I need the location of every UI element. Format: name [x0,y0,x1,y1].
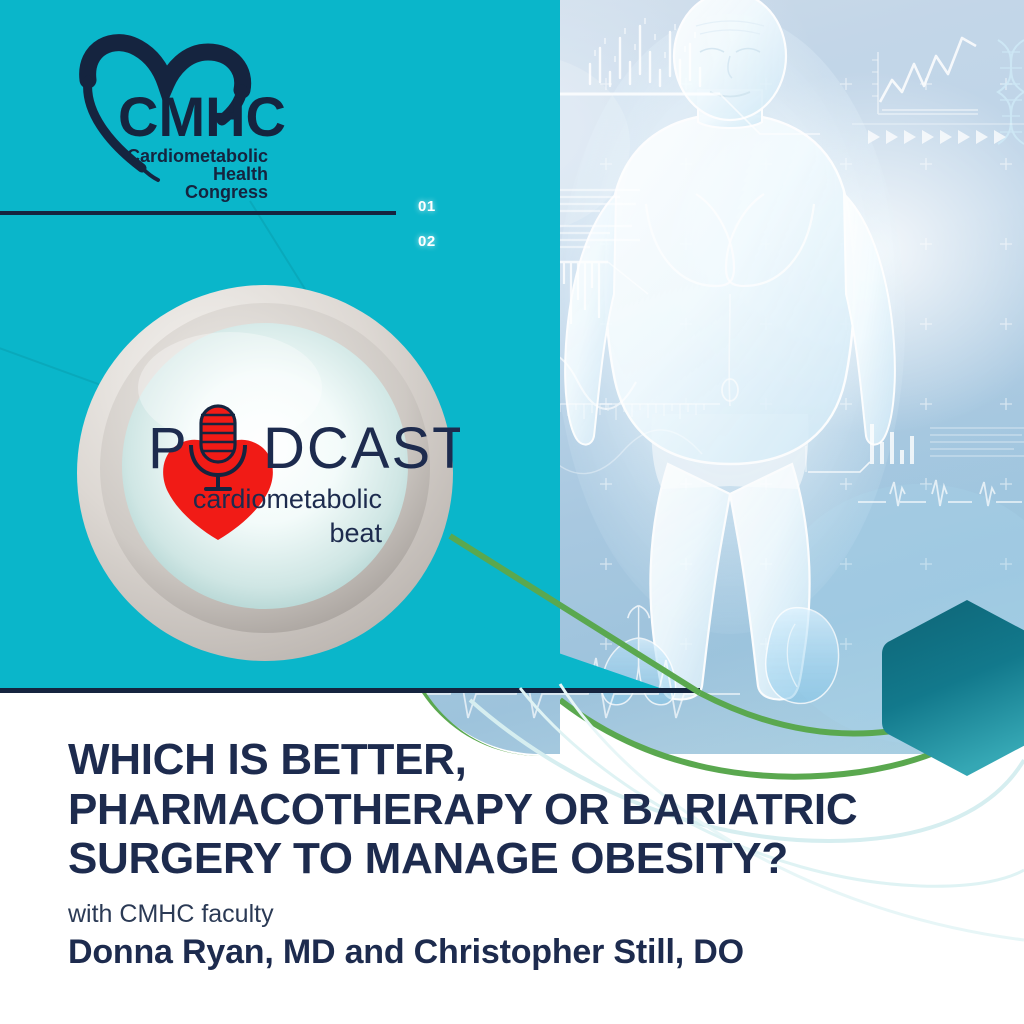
logo-acronym: CMHC [118,85,286,148]
hud-index-1: 01 [418,198,436,215]
badge-word-prefix: P [148,416,189,481]
dna-helix-icon [998,40,1024,144]
kidney-organ-icon [766,608,839,704]
poster-text-block: WHICH IS BETTER, PHARMACOTHERAPY OR BARI… [68,735,968,972]
logo-line3: Congress [185,182,268,202]
line-chart-icon [872,38,978,114]
podcast-badge[interactable]: P DCAST cardiometabolic beat [70,278,460,668]
logo-line2: Health [213,164,268,184]
top-divider-rule [0,211,396,215]
faculty-prefix: with CMHC faculty [68,900,968,929]
logo-line1: Cardiometabolic [127,146,268,166]
badge-word-suffix: DCAST [263,416,460,481]
badge-subtitle-line1: cardiometabolic [193,484,382,514]
badge-subtitle-line2: beat [329,518,382,548]
podcast-promo-poster: CMHC Cardiometabolic Health Congress [0,0,1024,1024]
cmhc-logo: CMHC Cardiometabolic Health Congress [70,28,340,203]
bottom-divider-rule [0,688,700,693]
arrow-markers-icon [852,116,1024,144]
hud-index-2: 02 [418,233,436,250]
faculty-names: Donna Ryan, MD and Christopher Still, DO [68,933,968,972]
page-title: WHICH IS BETTER, PHARMACOTHERAPY OR BARI… [68,735,968,884]
